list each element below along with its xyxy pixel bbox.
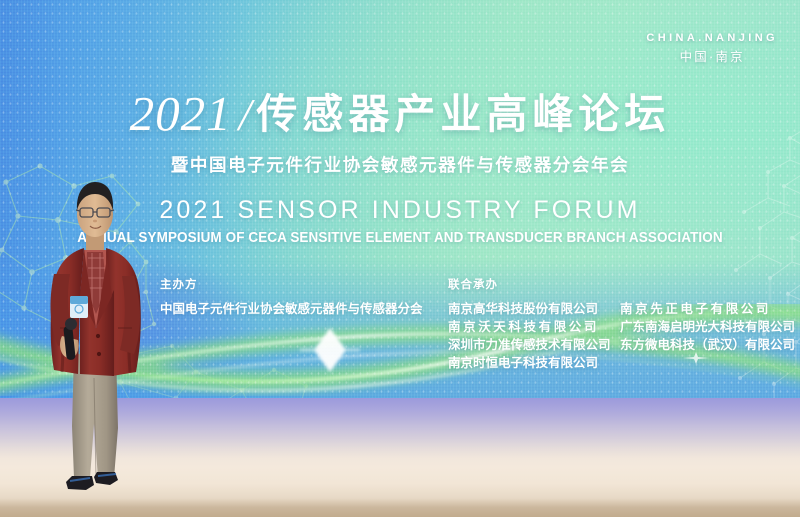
subtitle-chinese: 暨中国电子元件行业协会敏感元器件与传感器分会年会 (0, 152, 800, 177)
city-badge-english: CHINA.NANJING (646, 33, 778, 44)
title-separator: / (239, 89, 252, 140)
title-year: 2021 (130, 86, 232, 141)
organizer-name: 中国电子元件行业协会敏感元器件与传感器分会 (160, 300, 423, 318)
title-chinese: 传感器产业高峰论坛 (256, 90, 670, 138)
city-badge: CHINA.NANJING 中国·南京 (646, 33, 778, 64)
speaker-head (76, 182, 114, 237)
organizer-heading: 主办方 (160, 276, 423, 292)
speaker-person (34, 178, 154, 496)
co-organizer-name: 广东南海启明光大科技有限公司 (620, 318, 770, 336)
co-organizer-heading: 联合承办 (448, 276, 770, 292)
co-organizer-column: 联合承办 南京高华科技股份有限公司 南京先正电子有限公司 南京沃天科技有限公司 … (448, 276, 770, 372)
co-organizer-row: 南京高华科技股份有限公司 南京先正电子有限公司 (448, 300, 770, 318)
city-badge-chinese: 中国·南京 (646, 51, 778, 64)
conference-stage-photo: CHINA.NANJING 中国·南京 2021/传感器产业高峰论坛 暨中国电子… (0, 0, 800, 517)
organizer-column: 主办方 中国电子元件行业协会敏感元器件与传感器分会 (160, 276, 423, 318)
co-organizer-name: 南京时恒电子科技有限公司 (448, 354, 606, 372)
co-organizer-row: 南京时恒电子科技有限公司 (448, 354, 770, 372)
co-organizer-name: 深圳市力准传感技术有限公司 (448, 336, 606, 354)
page-title: 2021/传感器产业高峰论坛 (0, 80, 800, 142)
co-organizer-name: 南京高华科技股份有限公司 (448, 300, 606, 318)
sparkle-icon (683, 352, 709, 364)
co-organizer-row: 深圳市力准传感技术有限公司 东方微电科技（武汉）有限公司 (448, 336, 770, 354)
co-organizer-name: 南京沃天科技有限公司 (448, 318, 606, 336)
speaker-shoes (66, 472, 118, 490)
co-organizer-row: 南京沃天科技有限公司 广东南海启明光大科技有限公司 (448, 318, 770, 336)
co-organizer-name: 南京先正电子有限公司 (620, 300, 770, 318)
